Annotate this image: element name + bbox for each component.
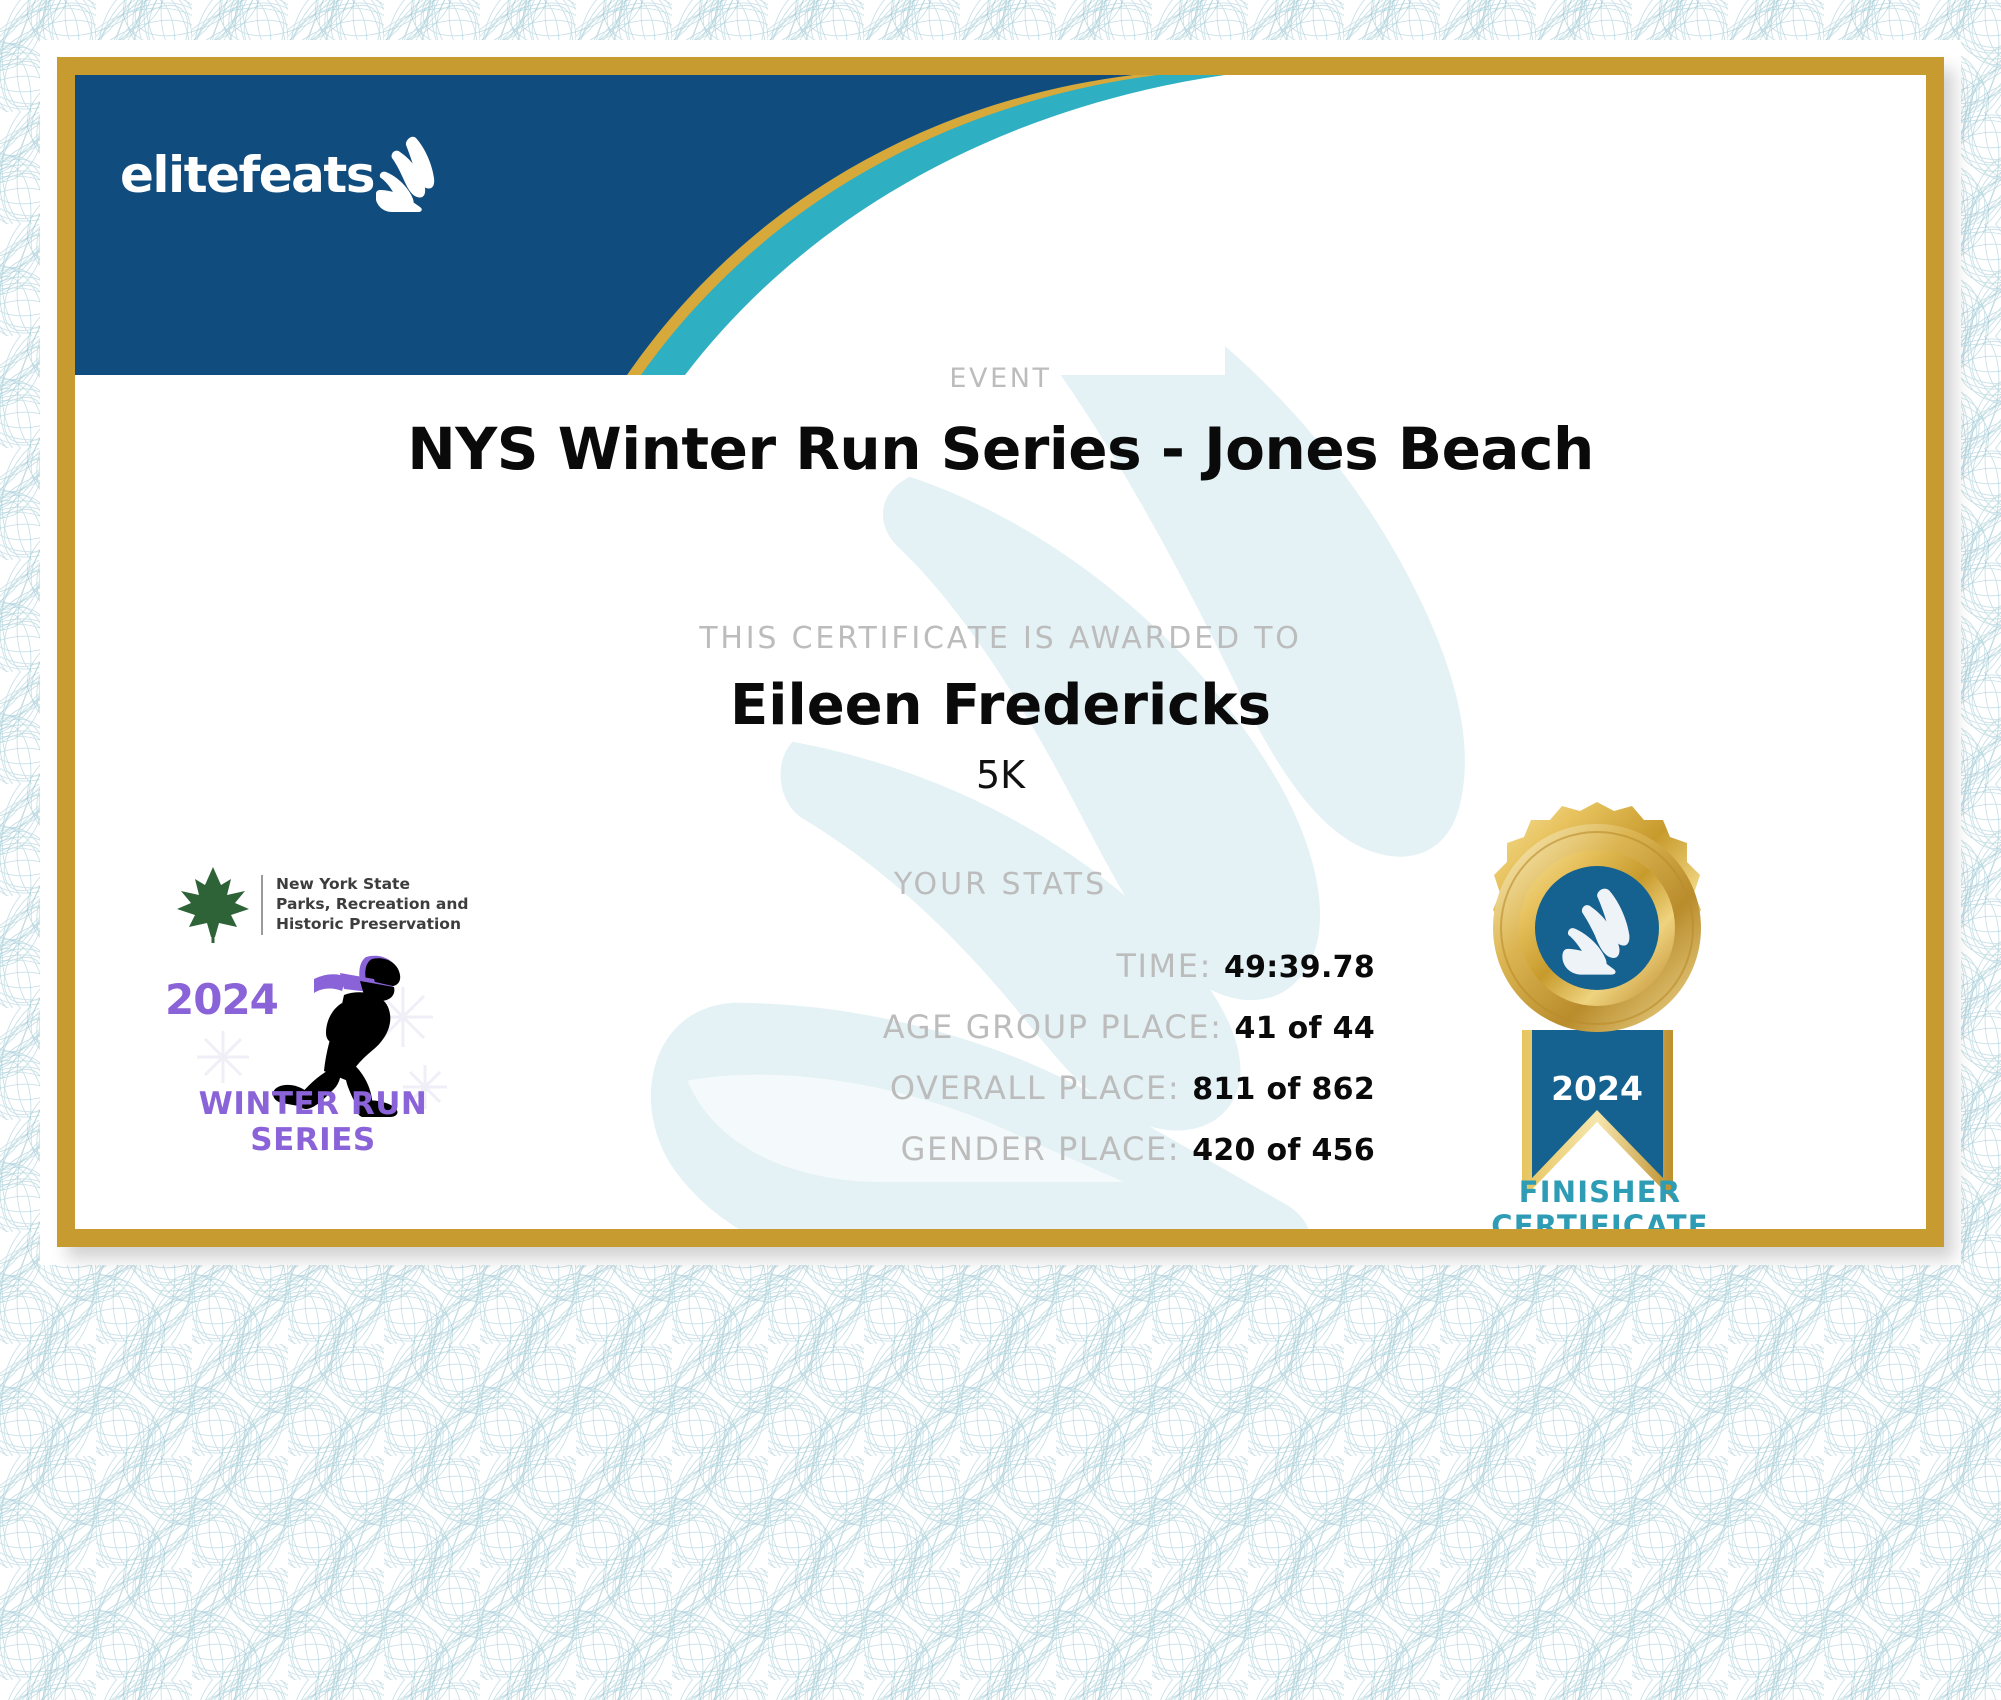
stat-key: AGE GROUP PLACE: xyxy=(883,1008,1223,1046)
stat-key: GENDER PLACE: xyxy=(901,1130,1181,1168)
stat-value: 811 of 862 xyxy=(1192,1072,1375,1107)
stat-value: 420 of 456 xyxy=(1192,1133,1375,1168)
nys-parks-logo: New York State Parks, Recreation and His… xyxy=(175,865,475,945)
sponsor-line-3: Historic Preservation xyxy=(276,915,469,935)
recipient-name: Eileen Fredericks xyxy=(75,673,1926,738)
race-distance: 5K xyxy=(75,753,1926,797)
stat-value: 49:39.78 xyxy=(1224,950,1375,985)
header-swoosh-graphic xyxy=(75,75,1225,375)
sponsor-line-2: Parks, Recreation and xyxy=(276,895,469,915)
elitefeats-logo: elitefeats xyxy=(120,130,480,220)
series-title: WINTER RUN SERIES xyxy=(153,1086,473,1158)
event-label: EVENT xyxy=(75,363,1926,394)
caption-line-2: CERTIFICATE xyxy=(1430,1209,1770,1229)
ribbon-year-text: 2024 xyxy=(1551,1069,1643,1108)
certificate-page: elitefeats EVENT NYS Winter Run Series -… xyxy=(0,0,2001,1700)
sponsor-logo-text: New York State Parks, Recreation and His… xyxy=(261,875,469,934)
caption-line-1: FINISHER xyxy=(1430,1175,1770,1209)
finisher-certificate-caption: FINISHER CERTIFICATE xyxy=(1430,1175,1770,1229)
stat-key: TIME: xyxy=(1116,947,1212,985)
awarded-to-label: THIS CERTIFICATE IS AWARDED TO xyxy=(75,621,1926,656)
winter-run-series-logo: 2024 xyxy=(153,947,473,1162)
stat-key: OVERALL PLACE: xyxy=(890,1069,1180,1107)
sponsor-line-1: New York State xyxy=(276,875,469,895)
gold-medal-rosette-icon: 2024 xyxy=(1460,800,1735,1220)
certificate-card: elitefeats EVENT NYS Winter Run Series -… xyxy=(57,57,1944,1247)
event-title: NYS Winter Run Series - Jones Beach xyxy=(75,415,1926,483)
winged-foot-icon xyxy=(376,136,438,214)
stat-value: 41 of 44 xyxy=(1235,1011,1375,1046)
maple-leaf-icon xyxy=(175,865,251,945)
brand-wordmark: elitefeats xyxy=(120,146,374,204)
